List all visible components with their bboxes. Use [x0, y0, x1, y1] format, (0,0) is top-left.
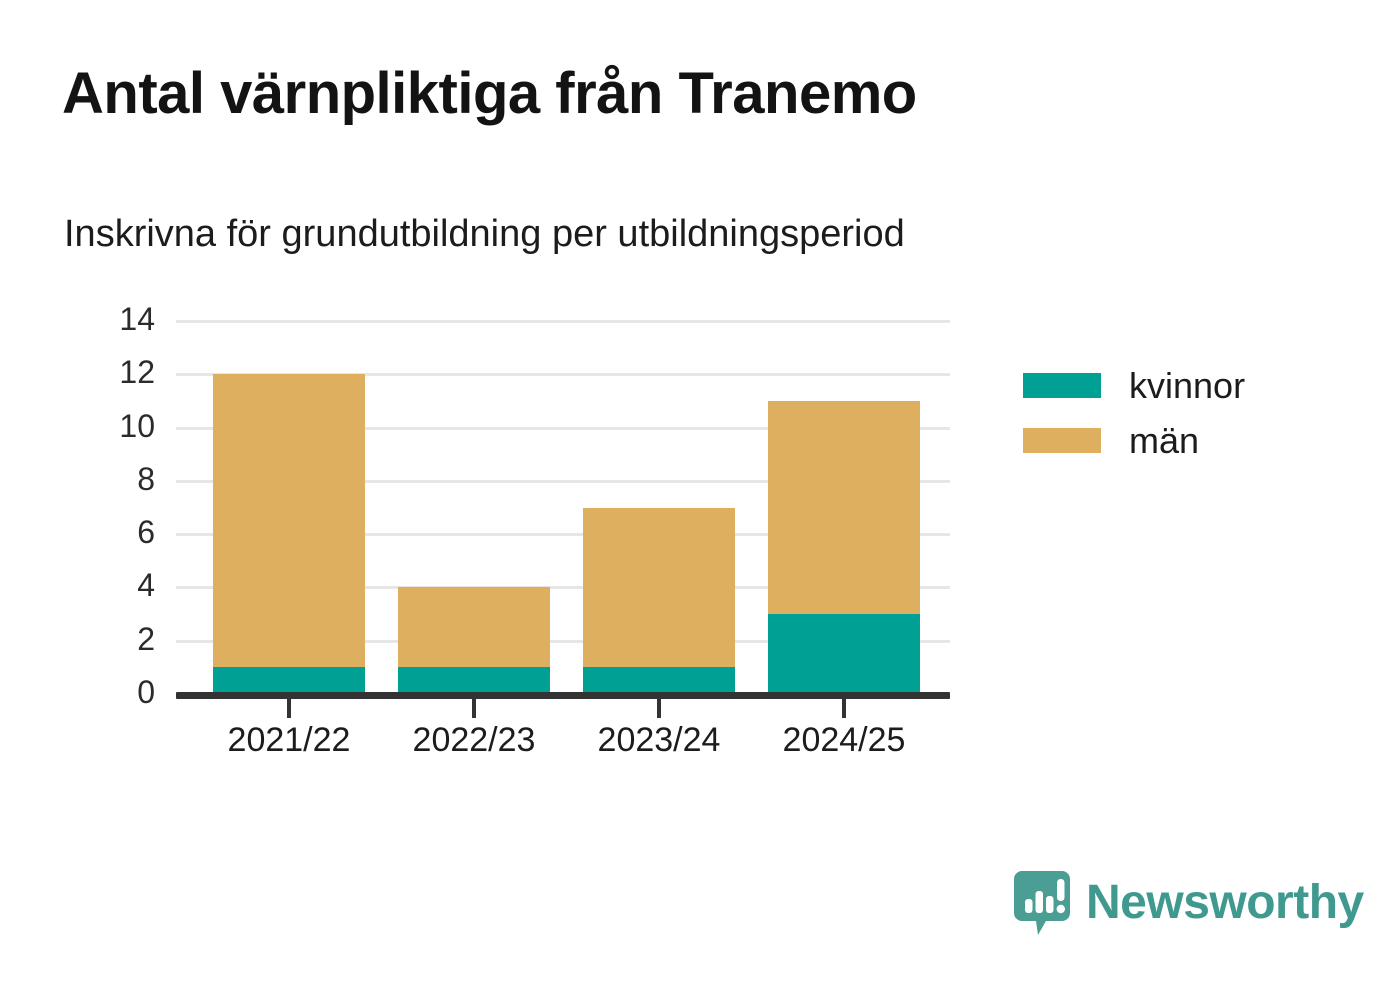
y-axis-tick-label: 0	[95, 676, 155, 708]
bar-segment-män-2022-23[interactable]	[398, 587, 550, 667]
x-axis-line	[176, 692, 950, 699]
y-axis-tick-label: 4	[95, 569, 155, 601]
x-axis-tick-label: 2024/25	[744, 721, 944, 760]
bar-segment-kvinnor-2024-25[interactable]	[768, 614, 920, 694]
chart-legend: kvinnormän	[1023, 358, 1245, 468]
y-axis-tick-label: 14	[95, 303, 155, 335]
x-axis-tick-mark	[842, 699, 846, 718]
bar-segment-män-2024-25[interactable]	[768, 401, 920, 614]
legend-swatch-kvinnor	[1023, 373, 1101, 398]
logo-wordmark: Newsworthy	[1086, 879, 1364, 927]
x-axis-tick-mark	[287, 699, 291, 718]
legend-item-män[interactable]: män	[1023, 413, 1245, 468]
y-axis-tick-label: 12	[95, 356, 155, 388]
bar-segment-män-2021-22[interactable]	[213, 374, 365, 667]
legend-item-kvinnor[interactable]: kvinnor	[1023, 358, 1245, 413]
x-axis-tick-mark	[657, 699, 661, 718]
y-axis-tick-label: 10	[95, 410, 155, 442]
legend-label: kvinnor	[1129, 368, 1245, 404]
x-axis-tick-label: 2023/24	[559, 721, 759, 760]
bar-segment-kvinnor-2022-23[interactable]	[398, 667, 550, 694]
x-axis-tick-mark	[472, 699, 476, 718]
speech-bubble-bar-chart-icon	[1012, 869, 1072, 937]
y-axis-tick-label: 2	[95, 623, 155, 655]
bar-segment-män-2023-24[interactable]	[583, 508, 735, 668]
legend-label: män	[1129, 423, 1199, 459]
legend-swatch-män	[1023, 428, 1101, 453]
x-axis-tick-label: 2021/22	[189, 721, 389, 760]
gridline	[176, 320, 950, 323]
y-axis-tick-label: 6	[95, 516, 155, 548]
newsworthy-logo: Newsworthy	[1012, 869, 1364, 937]
chart-plot-area: 02468101214 2021/222022/232023/242024/25	[0, 0, 1382, 999]
bar-segment-kvinnor-2021-22[interactable]	[213, 667, 365, 694]
x-axis-tick-label: 2022/23	[374, 721, 574, 760]
y-axis-tick-label: 8	[95, 463, 155, 495]
bar-segment-kvinnor-2023-24[interactable]	[583, 667, 735, 694]
